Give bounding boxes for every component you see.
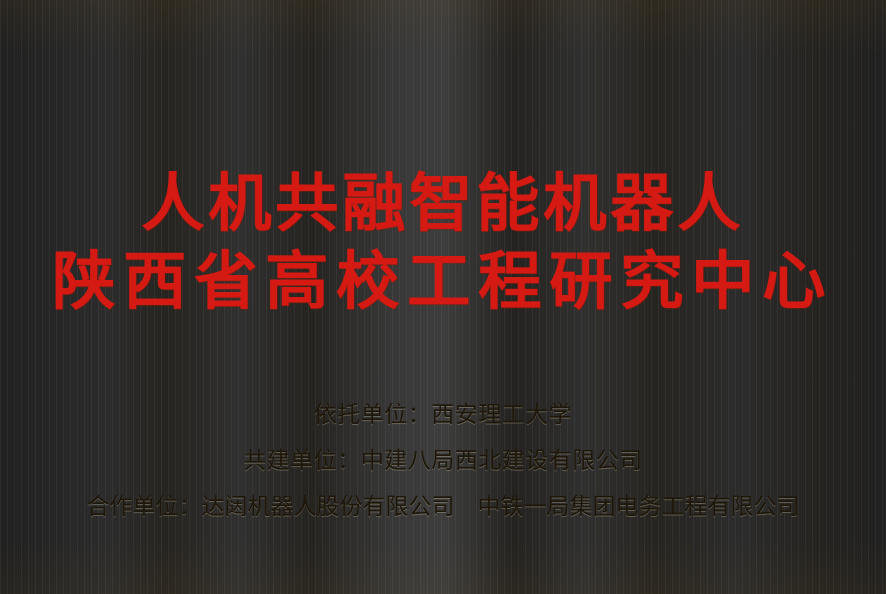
affiliation-host-institution: 依托单位：西安理工大学 (0, 392, 886, 438)
plaque-affiliations: 依托单位：西安理工大学 共建单位：中建八局西北建设有限公司 合作单位：达闼机器人… (0, 392, 886, 530)
title-line-1: 人机共融智能机器人 (0, 172, 886, 235)
affiliation-co-builder: 共建单位：中建八局西北建设有限公司 (0, 438, 886, 484)
affiliation-partners: 合作单位：达闼机器人股份有限公司 中铁一局集团电务工程有限公司 (0, 484, 886, 530)
plaque-content: 人机共融智能机器人 陕西省高校工程研究中心 依托单位：西安理工大学 共建单位：中… (0, 0, 886, 594)
plaque-board: 人机共融智能机器人 陕西省高校工程研究中心 依托单位：西安理工大学 共建单位：中… (0, 0, 886, 594)
title-line-2: 陕西省高校工程研究中心 (0, 250, 886, 313)
plaque-title: 人机共融智能机器人 陕西省高校工程研究中心 (0, 172, 886, 313)
